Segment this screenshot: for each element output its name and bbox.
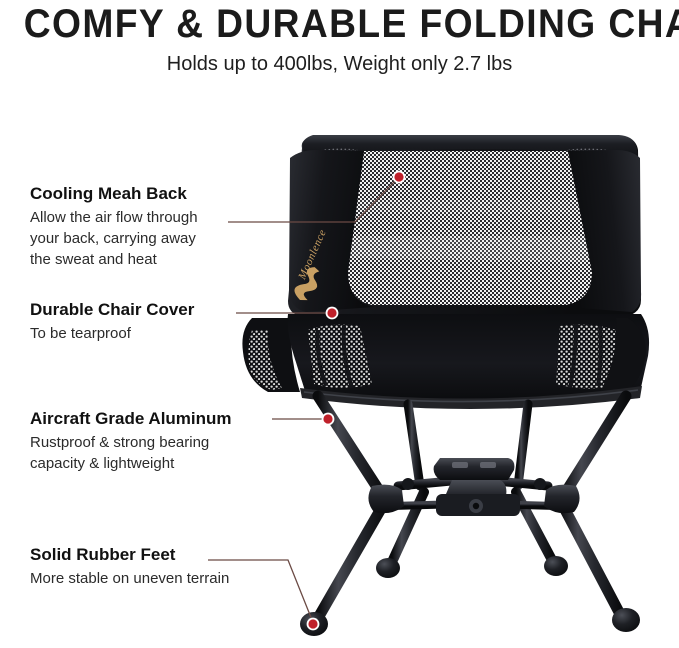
callout-body: More stable on uneven terrain xyxy=(30,568,229,589)
marker-dot-feet xyxy=(308,619,317,628)
callout-durable-chair-cover: Durable Chair Cover To be tearproof xyxy=(30,299,194,344)
callout-markers xyxy=(307,171,406,631)
callout-body: To be tearproof xyxy=(30,323,194,344)
callout-body: Allow the air flow through your back, ca… xyxy=(30,207,198,270)
callout-body-line: your back, carrying away xyxy=(30,228,198,249)
callout-body-line: Allow the air flow through xyxy=(30,207,198,228)
callout-body-line: capacity & lightweight xyxy=(30,453,232,474)
infographic-canvas: COMFY & DURABLE FOLDING CHAIR Holds up t… xyxy=(0,0,679,648)
callout-heading: Aircraft Grade Aluminum xyxy=(30,408,232,429)
callout-cooling-mesh-back: Cooling Meah Back Allow the air flow thr… xyxy=(30,183,198,270)
callout-heading: Cooling Meah Back xyxy=(30,183,198,204)
marker-dot-cover xyxy=(327,308,336,317)
marker-dot-mesh xyxy=(394,172,403,181)
marker-dot-aluminum xyxy=(323,414,332,423)
leader-line-mesh xyxy=(228,180,396,222)
callout-body-line: Rustproof & strong bearing xyxy=(30,432,232,453)
callout-body-line: More stable on uneven terrain xyxy=(30,568,229,589)
callout-solid-rubber-feet: Solid Rubber Feet More stable on uneven … xyxy=(30,544,229,589)
callout-aircraft-grade-aluminum: Aircraft Grade Aluminum Rustproof & stro… xyxy=(30,408,232,474)
callout-heading: Solid Rubber Feet xyxy=(30,544,229,565)
callout-heading: Durable Chair Cover xyxy=(30,299,194,320)
callout-body: Rustproof & strong bearing capacity & li… xyxy=(30,432,232,474)
callout-body-line: To be tearproof xyxy=(30,323,194,344)
callout-body-line: the sweat and heat xyxy=(30,249,198,270)
